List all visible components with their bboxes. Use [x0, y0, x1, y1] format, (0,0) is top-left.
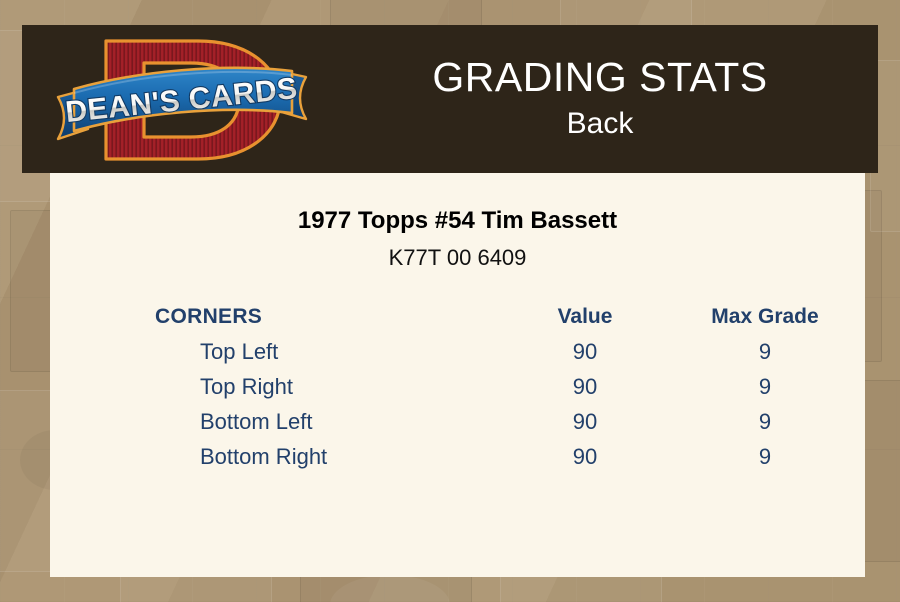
- row-label: Top Right: [50, 369, 505, 404]
- table-header-row: CORNERS Value Max Grade: [50, 299, 865, 334]
- column-header-value: Value: [505, 299, 665, 334]
- header-bar: DEAN'S CARDS GRADING STATS Back: [22, 25, 878, 173]
- cell-value: 90: [505, 439, 665, 474]
- table-row: Top Right 90 9: [50, 369, 865, 404]
- column-header-max-grade: Max Grade: [665, 299, 865, 334]
- card-serial-number: K77T 00 6409: [50, 245, 865, 271]
- row-label: Bottom Left: [50, 404, 505, 439]
- table-header: CORNERS Value Max Grade: [50, 299, 865, 334]
- section-label-corners: CORNERS: [50, 299, 505, 334]
- row-label: Bottom Right: [50, 439, 505, 474]
- card-title: 1977 Topps #54 Tim Bassett: [50, 207, 865, 236]
- page-subtitle: Back: [567, 105, 634, 143]
- grading-stats-table: CORNERS Value Max Grade Top Left 90 9 To…: [50, 299, 865, 474]
- grading-stats-page: DEAN'S CARDS GRADING STATS Back 1977 Top…: [0, 0, 900, 602]
- content-panel: 1977 Topps #54 Tim Bassett K77T 00 6409 …: [50, 173, 865, 577]
- background-blob: [330, 575, 450, 602]
- deans-cards-logo[interactable]: DEAN'S CARDS: [48, 27, 316, 173]
- table-row: Top Left 90 9: [50, 334, 865, 369]
- header-title-group: GRADING STATS Back: [322, 25, 878, 173]
- page-title: GRADING STATS: [432, 56, 767, 99]
- cell-max-grade: 9: [665, 404, 865, 439]
- cell-max-grade: 9: [665, 369, 865, 404]
- cell-max-grade: 9: [665, 439, 865, 474]
- cell-value: 90: [505, 369, 665, 404]
- table-row: Bottom Left 90 9: [50, 404, 865, 439]
- table-row: Bottom Right 90 9: [50, 439, 865, 474]
- table-body: Top Left 90 9 Top Right 90 9 Bottom Left…: [50, 334, 865, 474]
- row-label: Top Left: [50, 334, 505, 369]
- cell-value: 90: [505, 334, 665, 369]
- cell-value: 90: [505, 404, 665, 439]
- cell-max-grade: 9: [665, 334, 865, 369]
